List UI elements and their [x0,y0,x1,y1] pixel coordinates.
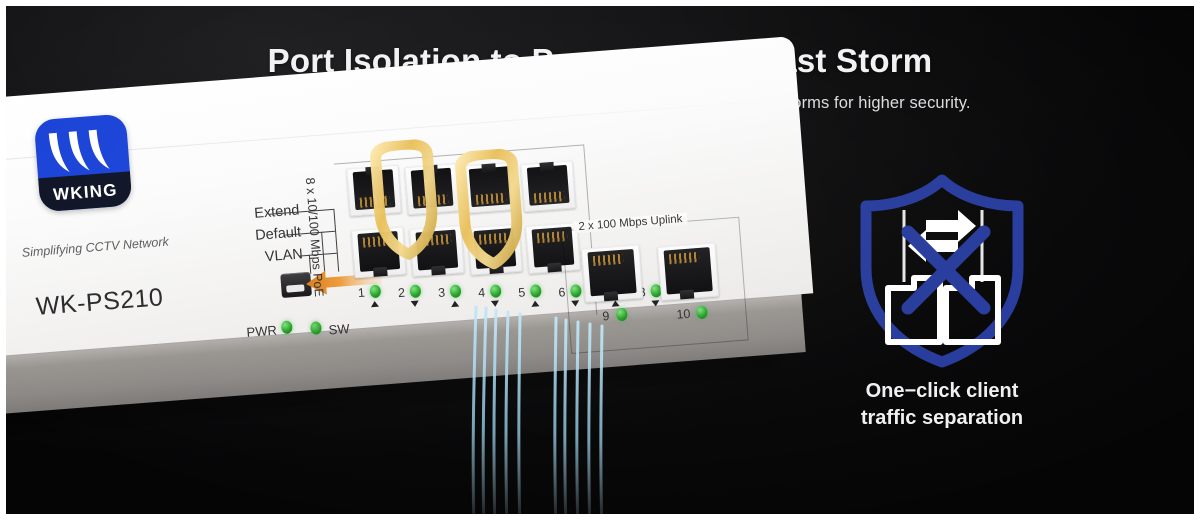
network-switch-product: WKING Simplifying CCTV Network WK-PS210 … [6,33,864,501]
port-marker-4 [491,300,499,307]
feature-caption-line2: traffic separation [832,405,1052,432]
port-marker-5 [531,300,539,307]
device-faceplate: WKING Simplifying CCTV Network WK-PS210 … [6,36,813,359]
marketing-banner: Port Isolation to Prevent Broadcast Stor… [0,0,1200,520]
brand-logo: WKING Simplifying CCTV Network WK-PS210 [34,114,133,213]
power-label: PWR [246,323,277,340]
port-4[interactable] [521,160,577,212]
brand-name: WKING [39,179,132,206]
port-9[interactable] [581,244,643,302]
port-isolation-shield-icon [842,166,1042,371]
port-6[interactable] [409,225,465,277]
port-marker-3 [451,300,459,307]
port-3[interactable] [462,162,518,214]
feature-caption: One−click client traffic separation [832,378,1052,432]
feature-block: One−click client traffic separation [842,166,1042,426]
port-2[interactable] [404,163,460,215]
port-number-5: 5 [518,285,526,299]
port-number-1: 1 [357,286,365,300]
port-number-3: 3 [438,286,446,300]
port-number-10: 10 [676,307,691,322]
mode-label-vlan: VLAN [264,246,303,265]
port-1[interactable] [346,165,402,217]
port-5[interactable] [351,227,407,279]
port-number-2: 2 [397,286,405,300]
port-7[interactable] [467,224,523,276]
feature-caption-line1: One−click client [832,378,1052,405]
port-marker-1 [371,301,379,308]
model-number: WK-PS210 [35,283,165,322]
port-number-9: 9 [602,309,610,323]
led-power [281,320,293,334]
port-10[interactable] [657,243,719,301]
port-marker-2 [411,301,419,308]
logo-wordmark-band: WKING [38,171,132,212]
port-number-6: 6 [558,285,566,299]
port-number-4: 4 [478,285,486,299]
logo-tile: WKING [34,114,133,213]
brand-tagline: Simplifying CCTV Network [21,234,182,260]
banner-canvas: Port Isolation to Prevent Broadcast Stor… [6,6,1194,514]
